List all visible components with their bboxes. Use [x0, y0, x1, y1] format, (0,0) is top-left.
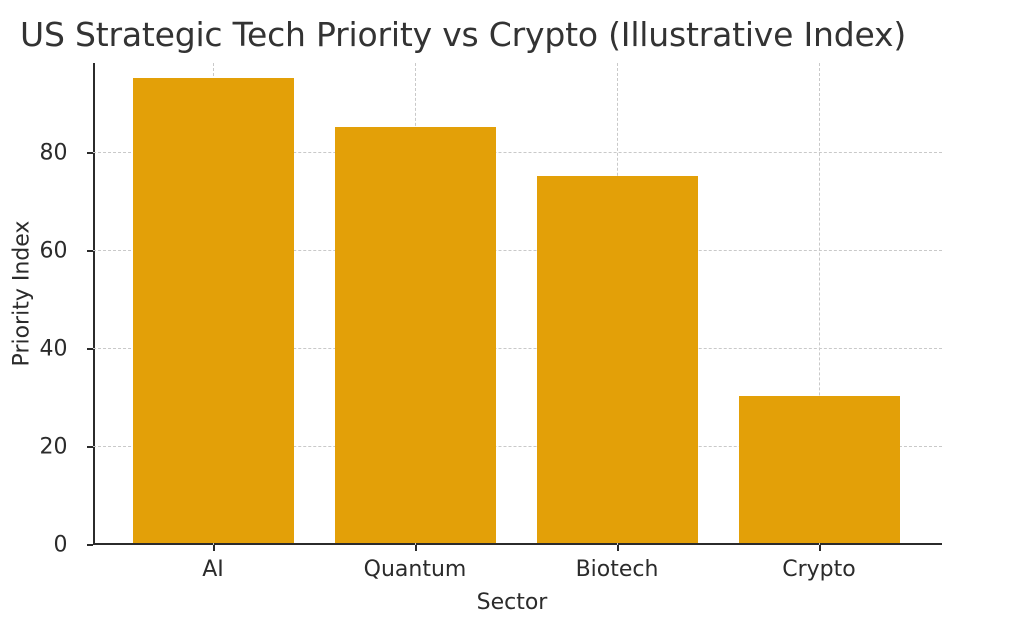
bar-crypto[interactable]	[739, 396, 900, 543]
bar-ai[interactable]	[133, 78, 294, 543]
bar-quantum[interactable]	[335, 127, 496, 543]
x-tick-mark-ai	[213, 545, 215, 551]
x-axis-spine	[93, 543, 942, 545]
x-tick-mark-crypto	[819, 545, 821, 551]
y-tick-mark-0	[87, 544, 93, 546]
y-tick-mark-20	[87, 446, 93, 448]
x-axis-label: Sector	[0, 590, 1024, 615]
y-tick-label-40: 40	[40, 337, 68, 362]
x-tick-label-crypto: Crypto	[782, 557, 855, 582]
x-tick-label-quantum: Quantum	[364, 557, 467, 582]
y-tick-mark-40	[87, 348, 93, 350]
chart-figure: US Strategic Tech Priority vs Crypto (Il…	[0, 0, 1024, 632]
y-tick-label-20: 20	[40, 435, 68, 460]
y-axis-spine	[93, 63, 95, 545]
y-tick-label-0: 0	[54, 533, 68, 558]
x-tick-label-ai: AI	[202, 557, 224, 582]
y-tick-mark-80	[87, 152, 93, 154]
x-tick-mark-biotech	[617, 545, 619, 551]
y-axis-label: Priority Index	[10, 4, 35, 584]
chart-title: US Strategic Tech Priority vs Crypto (Il…	[20, 12, 1010, 58]
plot-area: 0 20 40 60 80 AI Quantum Biotech Crypto	[93, 63, 942, 545]
y-tick-label-60: 60	[40, 239, 68, 264]
x-tick-mark-quantum	[415, 545, 417, 551]
y-tick-mark-60	[87, 250, 93, 252]
x-tick-label-biotech: Biotech	[576, 557, 659, 582]
y-tick-label-80: 80	[40, 141, 68, 166]
bar-biotech[interactable]	[537, 176, 698, 543]
